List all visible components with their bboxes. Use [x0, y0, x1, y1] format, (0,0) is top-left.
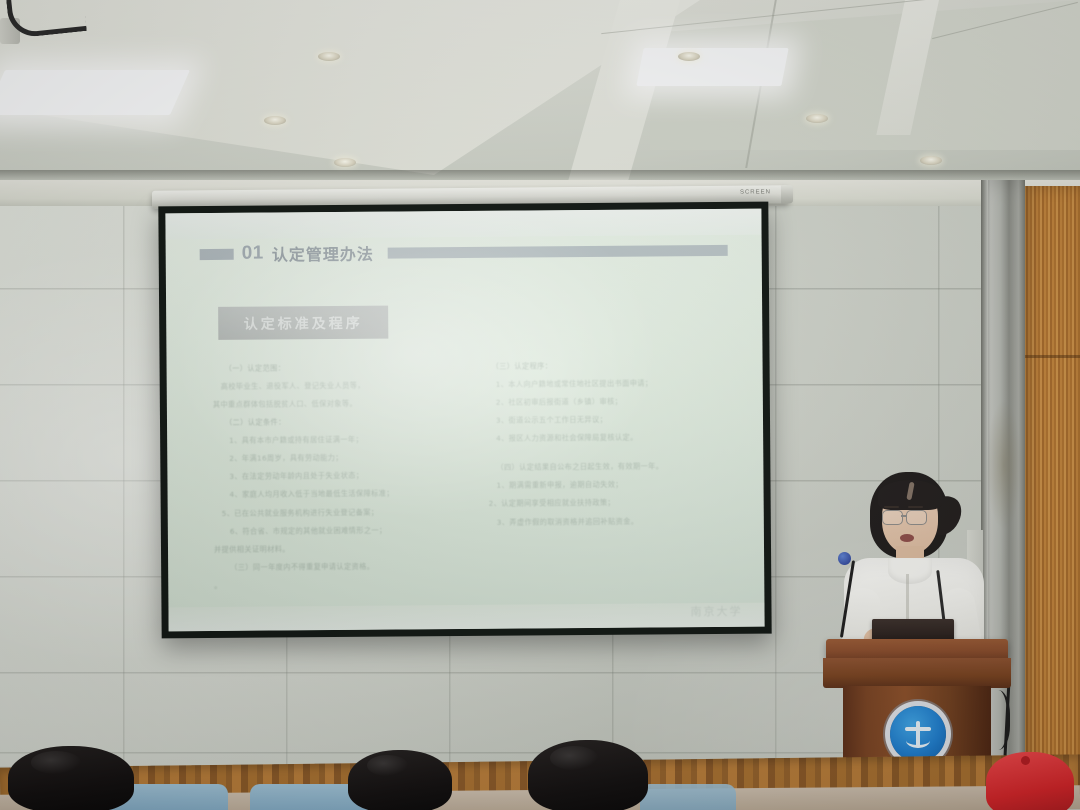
downlight-icon	[920, 156, 942, 165]
microphone-icon	[838, 552, 851, 565]
slide-body-line: 1、具有本市户籍或持有居住证满一年；	[213, 435, 458, 444]
audience-head	[528, 740, 648, 810]
audience-head	[8, 746, 134, 810]
emblem-mark	[903, 719, 933, 749]
institution-emblem-icon	[890, 706, 946, 762]
slide-body-line: （三）同一年度内不得重复申请认定资格。	[214, 562, 459, 571]
slide-watermark: 南京大学	[690, 603, 742, 619]
slide-subtitle-chip: 认定标准及程序	[218, 306, 388, 340]
emblem-swoosh	[906, 733, 930, 748]
slide-body: （一）认定范围：高校毕业生、退役军人、登记失业人员等，其中重点群体包括脱贫人口、…	[213, 361, 727, 600]
slide-body-line: （四）认定结果自公布之日起生效，有效期一年。	[480, 462, 725, 471]
housing-brand-label: SCREEN	[740, 189, 771, 195]
slide-surface: 01 认定管理办法 认定标准及程序 （一）认定范围：高校毕业生、退役军人、登记失…	[165, 209, 764, 632]
eyeglasses-icon	[906, 510, 927, 525]
slide-body-line: （二）认定条件：	[213, 417, 458, 426]
downlight-icon	[318, 52, 340, 61]
hair-highlight	[31, 751, 81, 773]
speaker-eyebrow	[884, 506, 899, 508]
housing-end-cap	[781, 185, 793, 203]
hair-highlight	[367, 755, 409, 776]
cap-button	[1021, 756, 1030, 765]
slide-body-line: 2、年满16周岁，具有劳动能力；	[213, 453, 458, 462]
conference-hall-photo: SCREEN 01 认定管理办法 认定标准及程序 （一）认定范围：高校毕业生、退…	[0, 0, 1080, 810]
title-dash-marker	[200, 248, 234, 259]
slide-right-column: （三）认定程序：1、本人向户籍地或常住地社区提出书面申请；2、社区初审后报街道（…	[480, 361, 727, 598]
slide-body-line: 3、弄虚作假的取消资格并追回补贴资金。	[481, 516, 726, 525]
slide-subtitle-text: 认定标准及程序	[244, 312, 363, 333]
slide-body-line: 。	[214, 580, 459, 589]
red-cap	[986, 752, 1074, 810]
wood-wall-panel	[1020, 186, 1080, 786]
slide-title-row: 01 认定管理办法	[200, 239, 728, 265]
slide-bottom-margin	[168, 603, 764, 632]
slide-body-line: 高校毕业生、退役军人、登记失业人员等，	[213, 381, 458, 390]
projection-screen: 01 认定管理办法 认定标准及程序 （一）认定范围：高校毕业生、退役军人、登记失…	[158, 202, 771, 639]
slide-body-line: 并提供相关证明材料。	[214, 544, 459, 553]
slide-top-margin	[165, 209, 761, 240]
downlight-icon	[334, 158, 356, 167]
slide-body-line: 2、社区初审后报街道（乡镇）审核；	[480, 397, 725, 406]
ceiling-light-panel	[0, 70, 190, 115]
slide-body-line: 4、报区人力资源和社会保障局复核认定。	[480, 433, 725, 442]
speaker-eyebrow	[908, 506, 923, 508]
speaker-mouth	[900, 534, 914, 542]
eyeglasses-icon	[882, 510, 903, 525]
downlight-icon	[264, 116, 286, 125]
chair-back	[640, 784, 736, 810]
slide-body-line: 5、已在公共就业服务机构进行失业登记备案；	[214, 508, 459, 517]
presenter-monitor[interactable]	[872, 619, 954, 641]
slide-section-number: 01	[242, 243, 264, 265]
slide-body-line: 4、家庭人均月收入低于当地最低生活保障标准；	[214, 489, 459, 498]
wood-wall-seam	[1020, 355, 1080, 358]
downlight-icon	[806, 114, 828, 123]
slide-body-line: 其中重点群体包括脱贫人口、低保对象等。	[213, 399, 458, 408]
slide-body-line: （三）认定程序：	[480, 361, 725, 370]
podium-lip	[823, 658, 1011, 688]
eyeglasses-bridge	[901, 515, 907, 517]
slide-body-line: 1、本人向户籍地或常住地社区提出书面申请；	[480, 379, 725, 388]
hair-highlight	[550, 746, 598, 770]
slide-left-column: （一）认定范围：高校毕业生、退役军人、登记失业人员等，其中重点群体包括脱贫人口、…	[213, 363, 460, 600]
slide-body-line: 3、在法定劳动年龄内且处于失业状态；	[213, 471, 458, 480]
speaker-collar	[888, 558, 932, 584]
slide-body-line: 3、街道公示五个工作日无异议；	[480, 415, 725, 424]
audience-head	[348, 750, 452, 810]
title-accent-bar	[388, 244, 728, 258]
metal-reflection	[986, 400, 1022, 530]
downlight-icon	[678, 52, 700, 61]
ceiling-light-panel	[636, 48, 788, 86]
slide-body-line: 1、期满需重新申报，逾期自动失效；	[480, 480, 725, 489]
slide-body-line: （一）认定范围：	[213, 363, 458, 372]
slide-body-line: 2、认定期间享受相应就业扶持政策；	[481, 498, 726, 507]
slide-section-title: 认定管理办法	[272, 241, 374, 266]
slide-body-line: 6、符合省、市规定的其他就业困难情形之一；	[214, 526, 459, 535]
